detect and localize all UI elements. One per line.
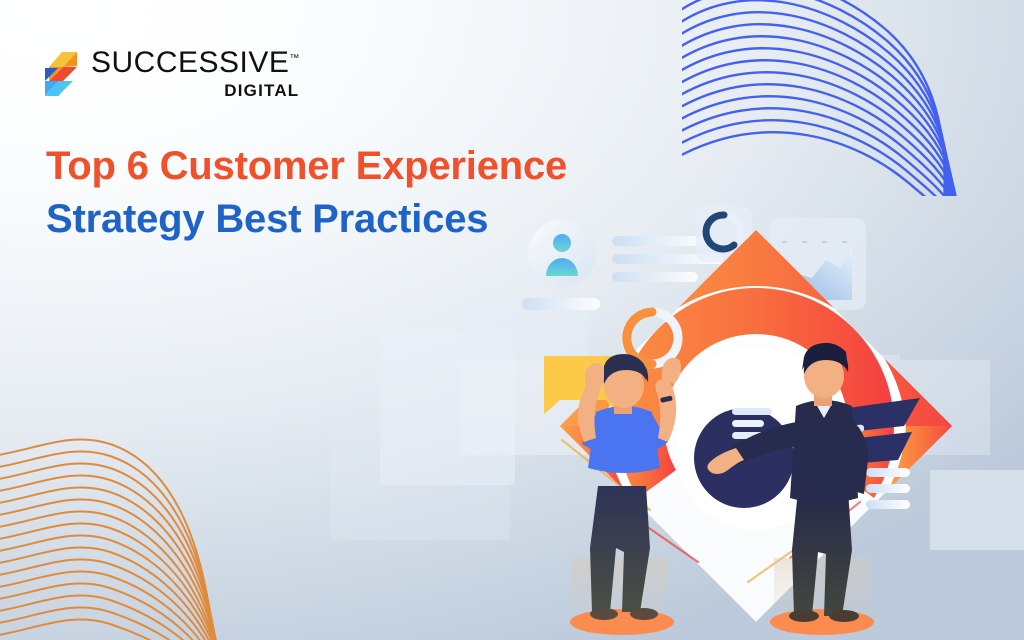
- orange-wave-lines: [0, 420, 320, 640]
- headline-line-1: Top 6 Customer Experience: [46, 140, 567, 193]
- logo-wordmark: SUCCESSIVE™: [91, 48, 299, 78]
- bg-block-7: [330, 420, 510, 540]
- banner-canvas: SUCCESSIVE™ DIGITAL Top 6 Customer Exper…: [0, 0, 1024, 640]
- headline-line-2: Strategy Best Practices: [46, 193, 567, 246]
- right-list-lines: [866, 468, 910, 509]
- logo-wordmark-block: SUCCESSIVE™ DIGITAL: [91, 48, 299, 99]
- successive-logo-mark-icon: [40, 50, 82, 98]
- headline-block: Top 6 Customer Experience Strategy Best …: [46, 140, 567, 246]
- brand-logo[interactable]: SUCCESSIVE™ DIGITAL: [40, 48, 299, 99]
- blue-wave-lines: [682, 0, 1024, 196]
- logo-wordmark-text: SUCCESSIVE: [91, 46, 289, 79]
- trademark-symbol: ™: [289, 53, 299, 64]
- customer-experience-target-illustration: [500, 190, 1024, 640]
- logo-subtitle: DIGITAL: [91, 82, 299, 99]
- user-avatar-card: [528, 220, 596, 288]
